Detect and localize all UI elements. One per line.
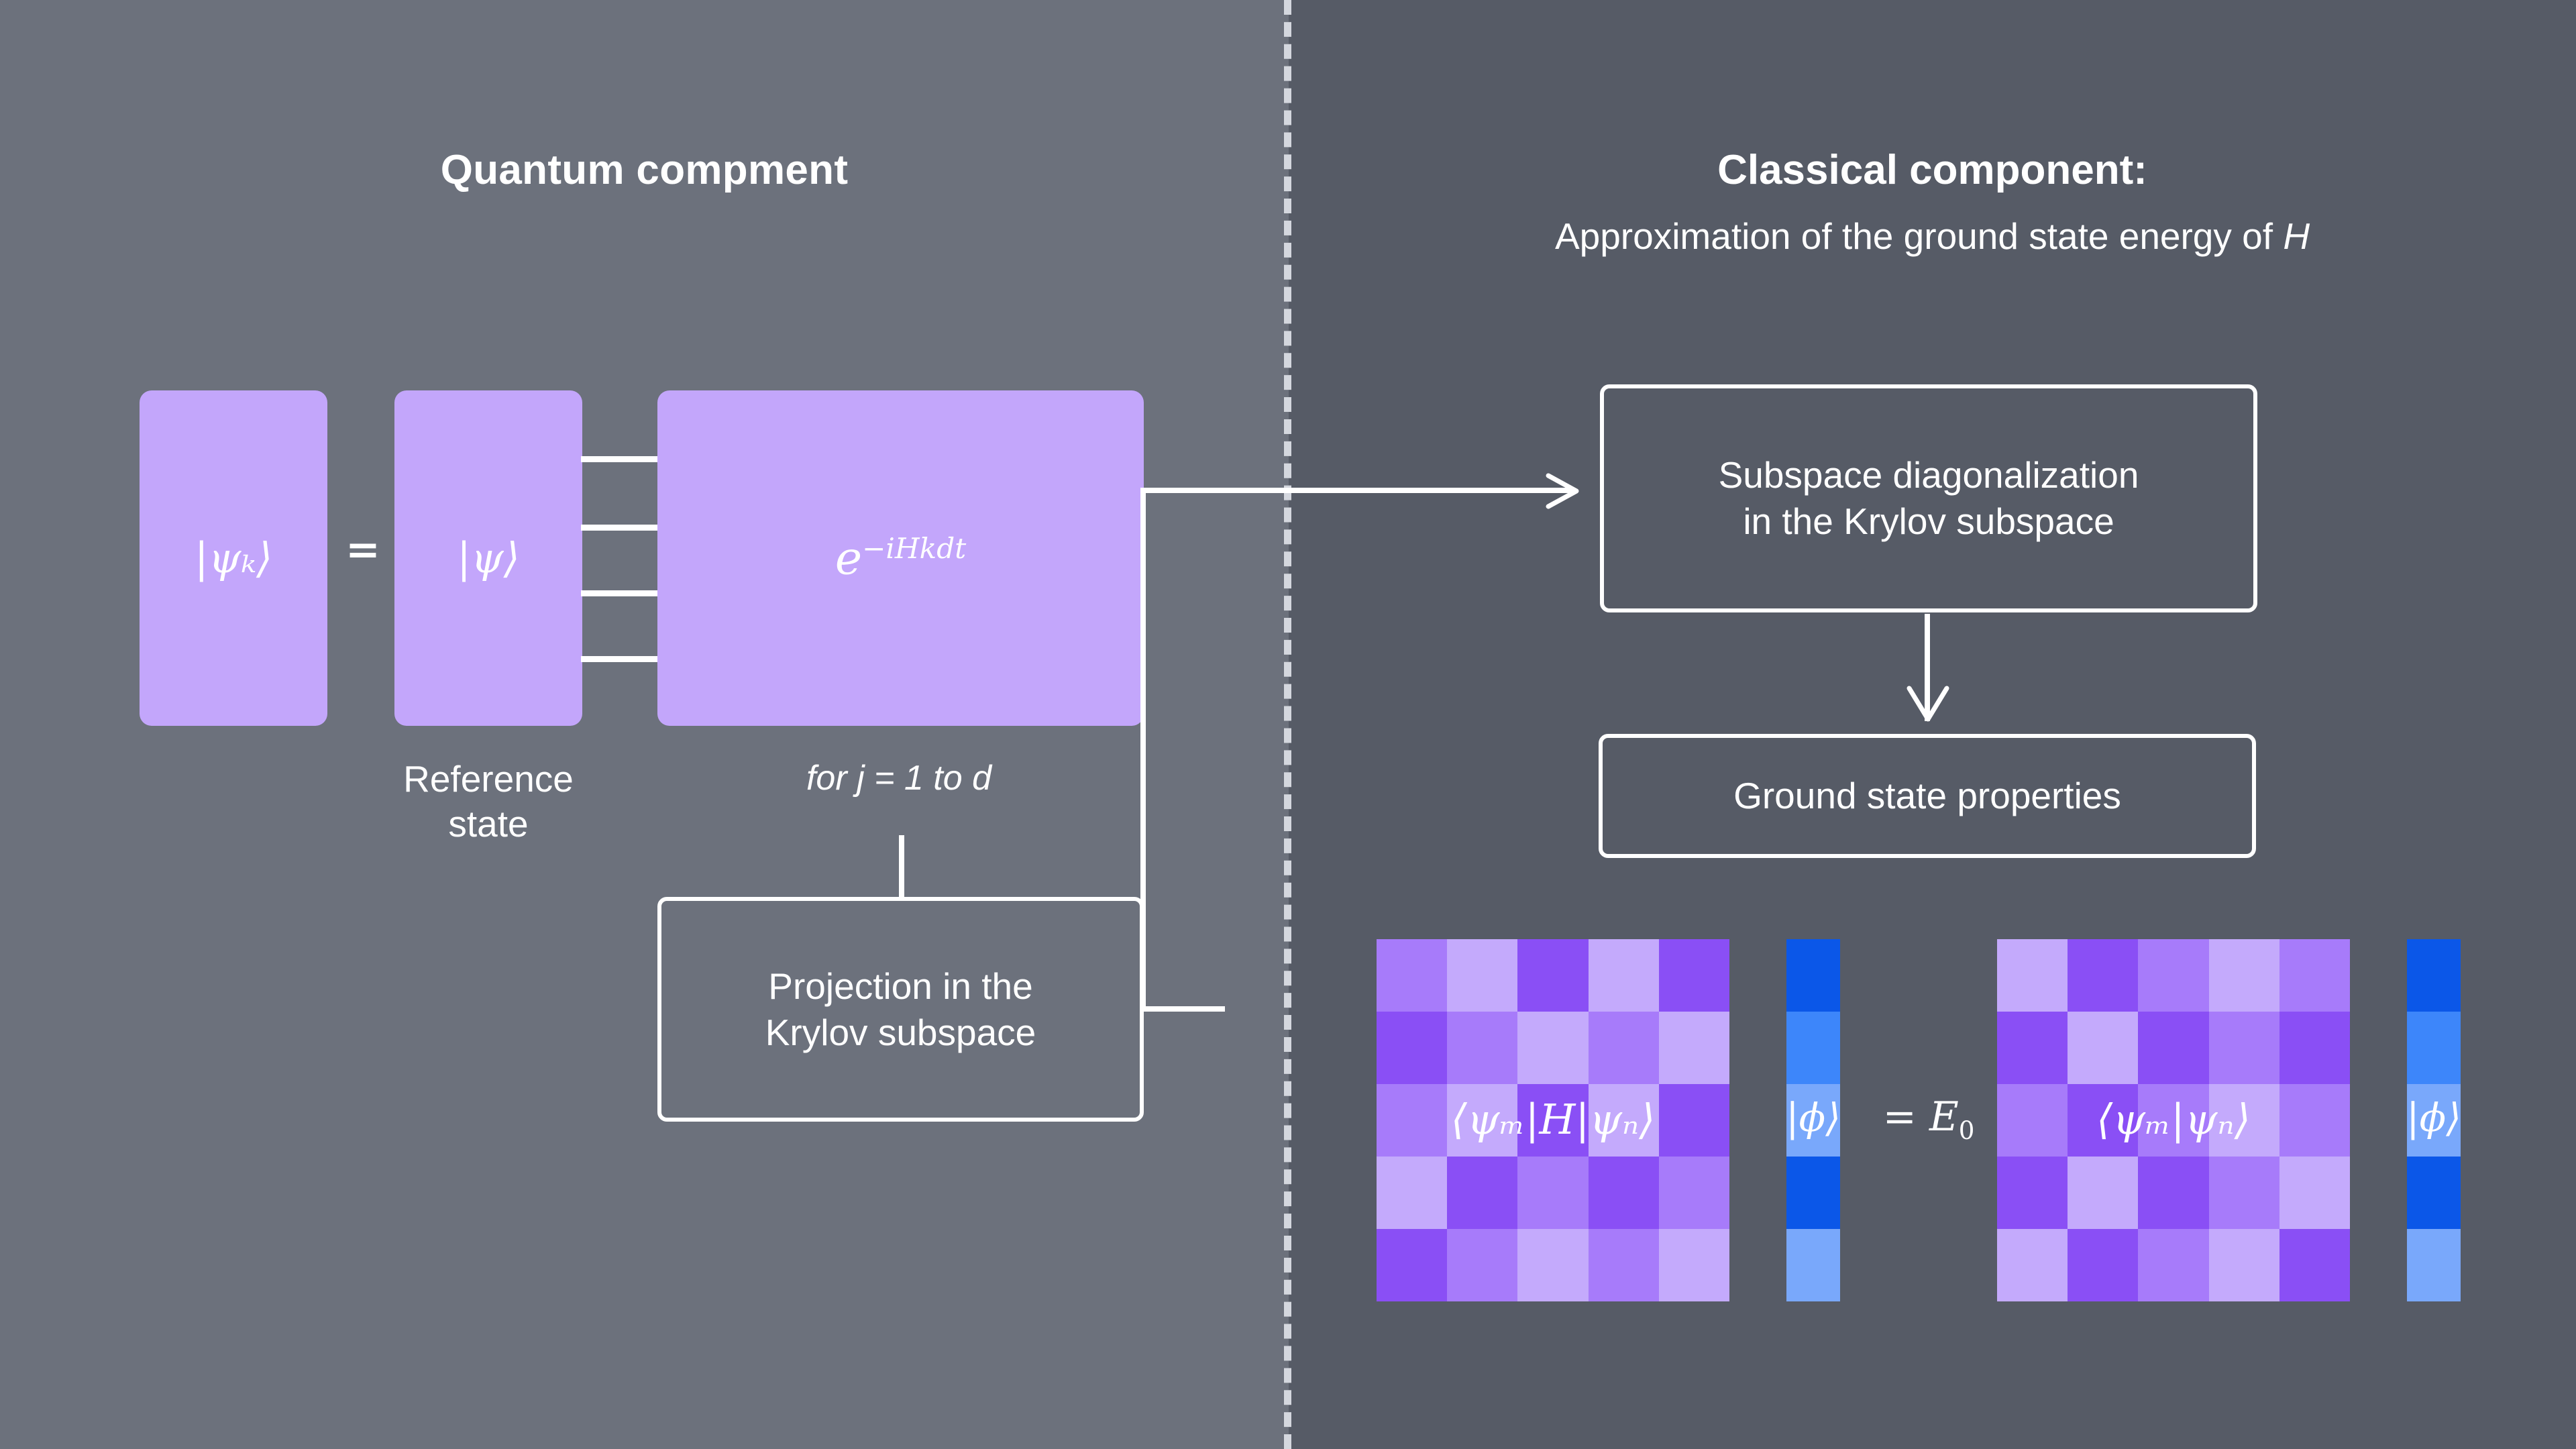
vector-cell-2 bbox=[1786, 1084, 1840, 1157]
gate-psi-k-label: |ψₖ⟩ bbox=[195, 537, 272, 579]
box-projection-krylov[interactable]: Projection in theKrylov subspace bbox=[657, 897, 1144, 1122]
classical-panel-title: Classical component: bbox=[1289, 146, 2576, 194]
gate-psi-label: |ψ⟩ bbox=[457, 537, 520, 579]
caption-reference-state-line2: state bbox=[448, 803, 528, 845]
heatmap-cell-r3-c2 bbox=[2138, 1157, 2208, 1229]
heatmap-cell-r2-c2 bbox=[2138, 1084, 2208, 1157]
vector-cell-3 bbox=[2407, 1157, 2461, 1229]
vector-cell-3 bbox=[1786, 1157, 1840, 1229]
gate-psi: |ψ⟩ bbox=[394, 390, 582, 726]
heatmap-cell-r2-c4 bbox=[2279, 1084, 2350, 1157]
heatmap-cell-r0-c4 bbox=[2279, 939, 2350, 1012]
heatmap-cell-r3-c2 bbox=[1517, 1157, 1588, 1229]
loop-stub-line bbox=[899, 835, 904, 899]
quantum-panel-title: Quantum compment bbox=[0, 146, 1289, 194]
gate-time-evolution: e−iHkdt bbox=[657, 390, 1144, 726]
heatmap-cell-r3-c1 bbox=[2068, 1157, 2138, 1229]
heatmap-cell-r0-c2 bbox=[2138, 939, 2208, 1012]
arrow-down-icon bbox=[1904, 683, 1952, 724]
heatmap-cell-r1-c3 bbox=[2209, 1012, 2279, 1084]
vector-cell-0 bbox=[2407, 939, 2461, 1012]
heatmap-cell-r1-c1 bbox=[2068, 1012, 2138, 1084]
heatmap-cell-r3-c3 bbox=[1589, 1157, 1659, 1229]
heatmap-cell-r0-c1 bbox=[2068, 939, 2138, 1012]
heatmap-cell-r2-c2 bbox=[1517, 1084, 1588, 1157]
heatmap-cell-r4-c4 bbox=[2279, 1229, 2350, 1301]
heatmap-cell-r4-c1 bbox=[2068, 1229, 2138, 1301]
vector-cell-4 bbox=[2407, 1229, 2461, 1301]
subtitle-text: Approximation of the ground state energy… bbox=[1555, 215, 2283, 257]
heatmap-cell-r2-c0 bbox=[1997, 1084, 2068, 1157]
heatmap-cell-r3-c0 bbox=[1377, 1157, 1447, 1229]
heatmap-cell-r0-c1 bbox=[1447, 939, 1517, 1012]
heatmap-cell-r4-c0 bbox=[1997, 1229, 2068, 1301]
overlap-matrix-heatmap bbox=[1997, 939, 2350, 1301]
connector-projection-right bbox=[1140, 1006, 1225, 1012]
caption-loop-range: for j = 1 to d bbox=[711, 758, 1087, 798]
circuit-wire-3 bbox=[581, 590, 660, 596]
heatmap-cell-r0-c0 bbox=[1377, 939, 1447, 1012]
diagram-canvas: Quantum compment Classical component: Ap… bbox=[0, 0, 2576, 1449]
heatmap-cell-r4-c3 bbox=[1589, 1229, 1659, 1301]
heatmap-cell-r2-c1 bbox=[1447, 1084, 1517, 1157]
heatmap-cell-r3-c1 bbox=[1447, 1157, 1517, 1229]
heatmap-cell-r1-c0 bbox=[1377, 1012, 1447, 1084]
heatmap-cell-r1-c0 bbox=[1997, 1012, 2068, 1084]
heatmap-cell-r3-c3 bbox=[2209, 1157, 2279, 1229]
heatmap-cell-r2-c3 bbox=[1589, 1084, 1659, 1157]
box-ground-state-properties-label: Ground state properties bbox=[1733, 773, 2121, 819]
caption-reference-state: Reference state bbox=[381, 757, 596, 847]
heatmap-cell-r1-c4 bbox=[2279, 1012, 2350, 1084]
heatmap-cell-r4-c0 bbox=[1377, 1229, 1447, 1301]
heatmap-cell-r3-c4 bbox=[2279, 1157, 2350, 1229]
gate-psi-k: |ψₖ⟩ bbox=[140, 390, 327, 726]
heatmap-cell-r0-c2 bbox=[1517, 939, 1588, 1012]
connector-to-subspace bbox=[1140, 488, 1572, 493]
vector-cell-2 bbox=[2407, 1084, 2461, 1157]
heatmap-cell-r4-c3 bbox=[2209, 1229, 2279, 1301]
heatmap-cell-r0-c4 bbox=[1659, 939, 1729, 1012]
box-ground-state-properties[interactable]: Ground state properties bbox=[1599, 734, 2256, 858]
eigenvector-right-heatmap bbox=[2407, 939, 2461, 1301]
circuit-wire-4 bbox=[581, 656, 660, 662]
vector-cell-0 bbox=[1786, 939, 1840, 1012]
heatmap-cell-r1-c3 bbox=[1589, 1012, 1659, 1084]
heatmap-cell-r4-c2 bbox=[2138, 1229, 2208, 1301]
circuit-equals-sign: = bbox=[339, 525, 386, 574]
heatmap-cell-r1-c1 bbox=[1447, 1012, 1517, 1084]
classical-panel-subtitle: Approximation of the ground state energy… bbox=[1289, 215, 2576, 258]
heatmap-cell-r3-c4 bbox=[1659, 1157, 1729, 1229]
gate-time-evolution-label: e−iHkdt bbox=[835, 535, 966, 582]
heatmap-cell-r4-c1 bbox=[1447, 1229, 1517, 1301]
hamiltonian-matrix-heatmap bbox=[1377, 939, 1729, 1301]
heatmap-cell-r4-c2 bbox=[1517, 1229, 1588, 1301]
heatmap-cell-r1-c2 bbox=[2138, 1012, 2208, 1084]
arrow-right-icon bbox=[1539, 468, 1586, 515]
heatmap-cell-r4-c4 bbox=[1659, 1229, 1729, 1301]
heatmap-cell-r0-c3 bbox=[2209, 939, 2279, 1012]
circuit-wire-1 bbox=[581, 456, 660, 462]
vector-cell-1 bbox=[2407, 1012, 2461, 1084]
heatmap-cell-r2-c3 bbox=[2209, 1084, 2279, 1157]
vector-cell-1 bbox=[1786, 1012, 1840, 1084]
box-subspace-diagonalization[interactable]: Subspace diagonalizationin the Krylov su… bbox=[1600, 384, 2257, 612]
vector-cell-4 bbox=[1786, 1229, 1840, 1301]
heatmap-cell-r2-c0 bbox=[1377, 1084, 1447, 1157]
heatmap-cell-r0-c3 bbox=[1589, 939, 1659, 1012]
heatmap-cell-r2-c1 bbox=[2068, 1084, 2138, 1157]
caption-reference-state-line1: Reference bbox=[403, 758, 574, 800]
circuit-wire-2 bbox=[581, 525, 660, 531]
heatmap-cell-r3-c0 bbox=[1997, 1157, 2068, 1229]
box-subspace-diagonalization-label: Subspace diagonalizationin the Krylov su… bbox=[1719, 452, 2139, 545]
subtitle-symbol-h: H bbox=[2283, 215, 2310, 257]
heatmap-cell-r1-c2 bbox=[1517, 1012, 1588, 1084]
heatmap-cell-r0-c0 bbox=[1997, 939, 2068, 1012]
eigenvector-left-heatmap bbox=[1786, 939, 1840, 1301]
box-projection-krylov-label: Projection in theKrylov subspace bbox=[765, 963, 1036, 1056]
heatmap-cell-r2-c4 bbox=[1659, 1084, 1729, 1157]
heatmap-cell-r1-c4 bbox=[1659, 1012, 1729, 1084]
connector-vertical-riser bbox=[1140, 488, 1146, 1011]
